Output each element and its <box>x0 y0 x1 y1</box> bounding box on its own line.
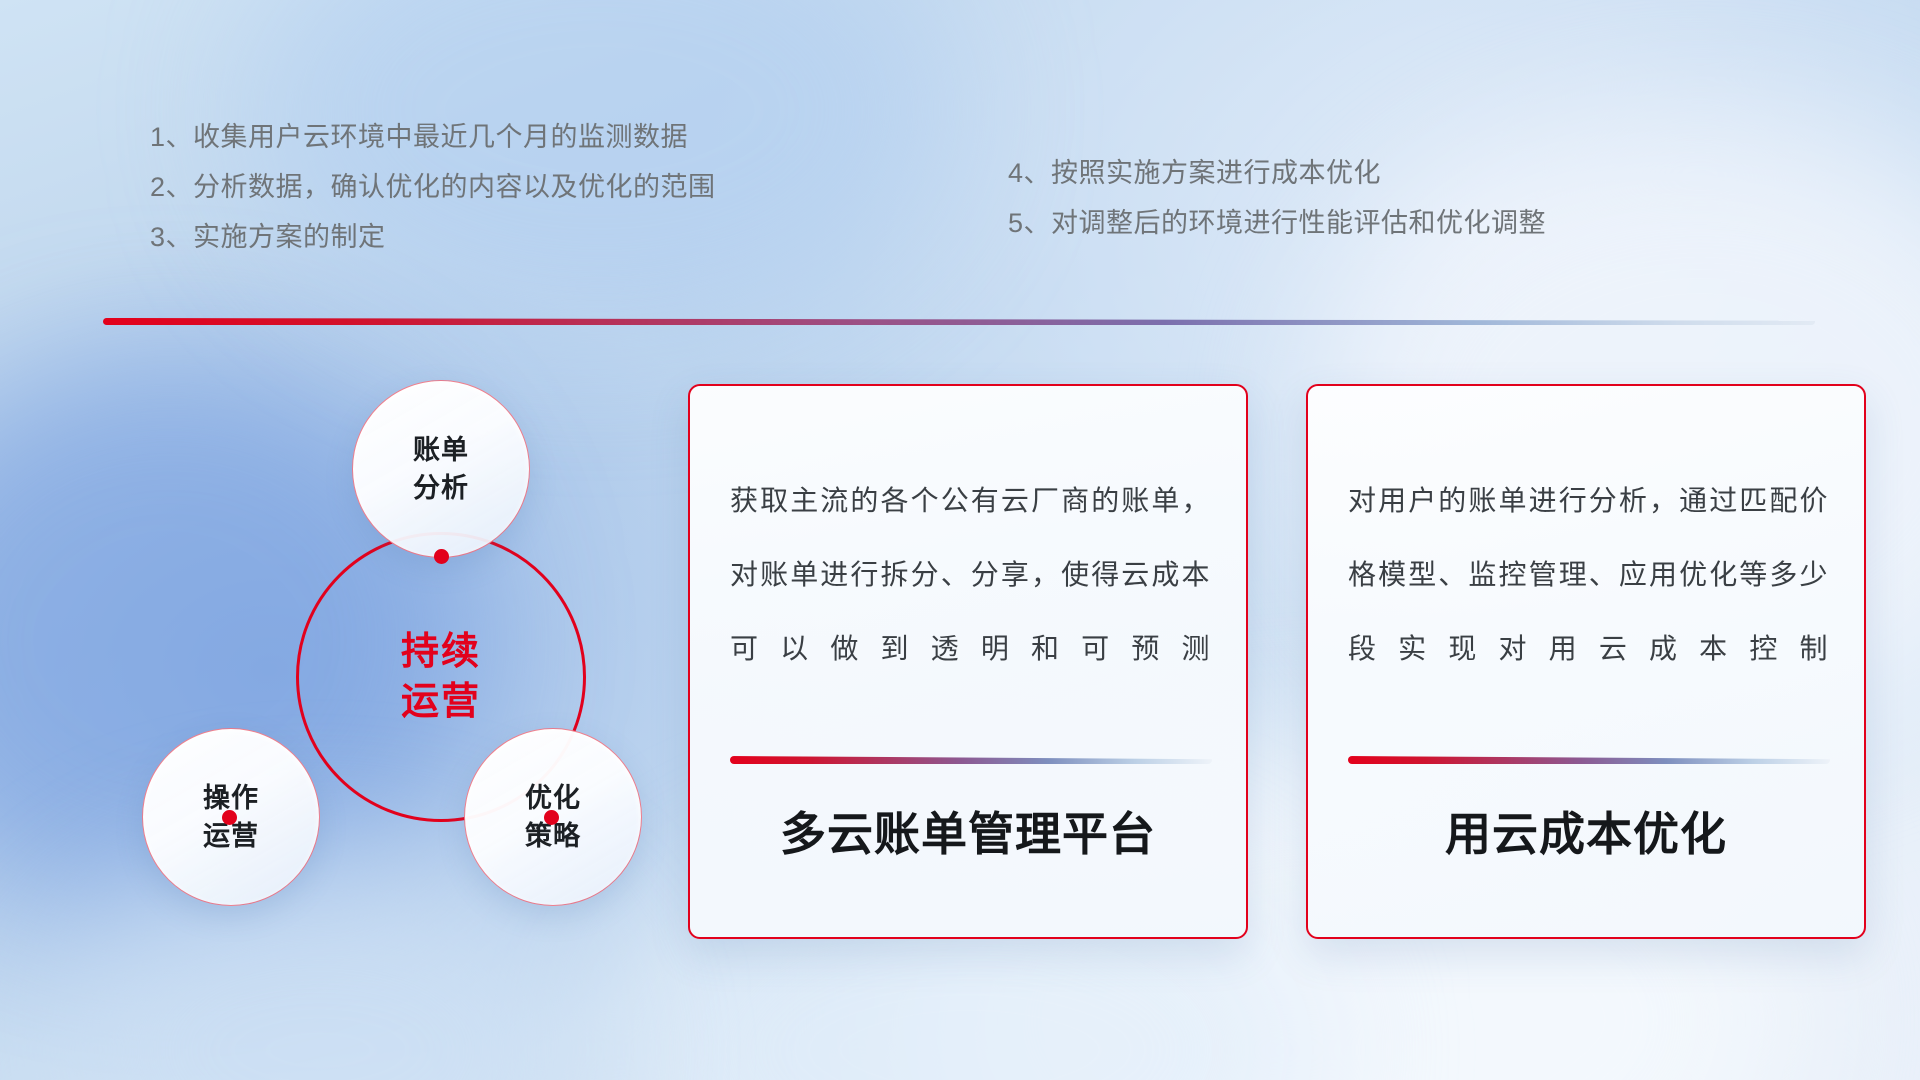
venn-node-dot-left <box>222 810 237 825</box>
section-divider <box>103 318 1815 325</box>
feature-card-cost-optimization[interactable]: 对用户的账单进行分析，通过匹配价格模型、监控管理、应用优化等多少段实现对用云成本… <box>1306 384 1866 939</box>
bullet-item-1: 1、收集用户云环境中最近几个月的监测数据 <box>150 112 716 162</box>
venn-center-line-1: 持续 <box>401 627 481 677</box>
feature-card-multicloud-billing[interactable]: 获取主流的各个公有云厂商的账单，对账单进行拆分、分享，使得云成本可以做到透明和可… <box>688 384 1248 939</box>
bubble-label-line-1: 账单 <box>413 431 469 469</box>
card-description: 对用户的账单进行分析，通过匹配价格模型、监控管理、应用优化等多少段实现对用云成本… <box>1348 464 1828 686</box>
bullet-item-2: 2、分析数据，确认优化的内容以及优化的范围 <box>150 162 716 212</box>
card-accent-rule <box>1348 756 1830 764</box>
card-title: 多云账单管理平台 <box>690 798 1246 864</box>
slide-root: 1、收集用户云环境中最近几个月的监测数据 2、分析数据，确认优化的内容以及优化的… <box>0 0 1920 1080</box>
card-title: 用云成本优化 <box>1308 798 1864 864</box>
venn-diagram: 持续 运营 账单 分析 操作 运营 优化 策略 <box>104 360 634 930</box>
venn-center-line-2: 运营 <box>401 677 481 727</box>
card-description: 获取主流的各个公有云厂商的账单，对账单进行拆分、分享，使得云成本可以做到透明和可… <box>730 464 1210 686</box>
bullet-list-right: 4、按照实施方案进行成本优化 5、对调整后的环境进行性能评估和优化调整 <box>1008 148 1546 248</box>
bullet-item-5: 5、对调整后的环境进行性能评估和优化调整 <box>1008 198 1546 248</box>
venn-bubble-billing-analysis[interactable]: 账单 分析 <box>352 380 530 558</box>
bullet-item-4: 4、按照实施方案进行成本优化 <box>1008 148 1546 198</box>
card-accent-rule <box>730 756 1212 764</box>
bullet-item-3: 3、实施方案的制定 <box>150 212 716 262</box>
bubble-label-line-2: 分析 <box>413 469 469 507</box>
venn-node-dot-top <box>434 549 449 564</box>
bullet-list-left: 1、收集用户云环境中最近几个月的监测数据 2、分析数据，确认优化的内容以及优化的… <box>150 112 716 262</box>
venn-node-dot-right <box>544 810 559 825</box>
